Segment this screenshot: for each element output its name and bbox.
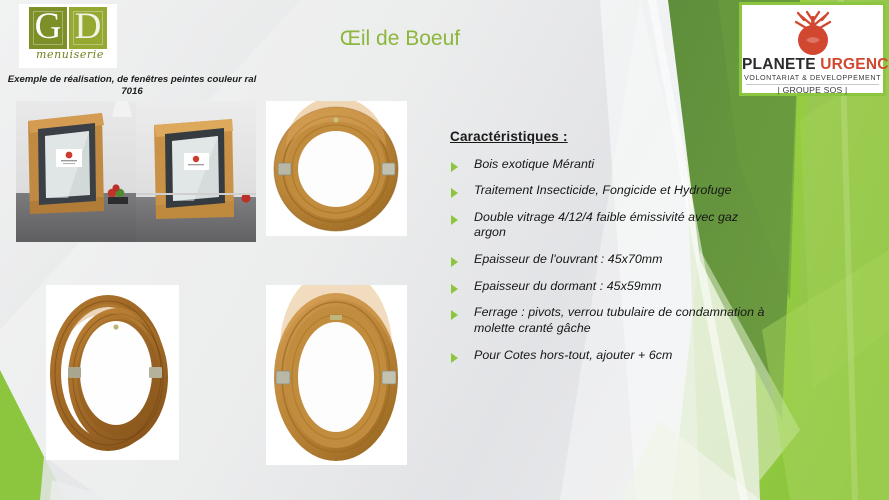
- planete-urgence-name: PLANETE URGENCE: [742, 57, 883, 73]
- list-item: Ferrage : pivots, verrou tubulaire de co…: [450, 305, 770, 336]
- painted-window-right: [136, 101, 256, 242]
- logo-gd-menuiserie: G D menuiserie: [19, 4, 117, 68]
- list-item: Epaisseur du dormant : 45x59mm: [450, 279, 770, 295]
- planete-urgence-tagline: VOLONTARIAT & DEVELOPPEMENT: [742, 74, 883, 81]
- list-item: Double vitrage 4/12/4 faible émissivité …: [450, 210, 770, 241]
- list-item-label: Ferrage : pivots, verrou tubulaire de co…: [474, 305, 770, 336]
- list-item-label: Pour Cotes hors-tout, ajouter + 6cm: [474, 348, 770, 364]
- photo-caption: Exemple de réalisation, de fenêtres pein…: [6, 74, 258, 99]
- pu-name-part-2: URGENCE: [820, 56, 889, 73]
- characteristics-section: Caractéristiques : Bois exotique Méranti…: [450, 130, 770, 374]
- gd-letter-d: D: [69, 7, 107, 49]
- gd-letter-g: G: [29, 7, 67, 49]
- photo-oval-angled: [46, 285, 179, 460]
- tree-icon: [782, 10, 844, 57]
- triangle-bullet-icon: [451, 284, 458, 294]
- photo-painted-windows: [16, 101, 256, 242]
- triangle-bullet-icon: [451, 188, 458, 198]
- gd-square-d: D: [69, 7, 107, 49]
- list-item-label: Traitement Insecticide, Fongicide et Hyd…: [474, 183, 770, 199]
- list-item-label: Double vitrage 4/12/4 faible émissivité …: [474, 210, 770, 241]
- pu-name-part-1: PLANETE: [742, 56, 816, 73]
- gd-square-g: G: [29, 7, 67, 49]
- slide-canvas: G D menuiserie: [0, 0, 889, 500]
- photo-oval-front: [266, 285, 407, 465]
- list-item-label: Epaisseur de l'ouvrant : 45x70mm: [474, 252, 770, 268]
- painted-window-left: [16, 101, 136, 242]
- list-item: Pour Cotes hors-tout, ajouter + 6cm: [450, 348, 770, 364]
- triangle-bullet-icon: [451, 215, 458, 225]
- list-item: Bois exotique Méranti: [450, 157, 770, 173]
- triangle-bullet-icon: [451, 162, 458, 172]
- triangle-bullet-icon: [451, 310, 458, 320]
- slide-title: Œil de Boeuf: [250, 28, 550, 49]
- triangle-bullet-icon: [451, 353, 458, 363]
- list-item: Traitement Insecticide, Fongicide et Hyd…: [450, 183, 770, 199]
- list-item-label: Epaisseur du dormant : 45x59mm: [474, 279, 770, 295]
- planete-urgence-groupe: | GROUPE SOS |: [742, 86, 883, 95]
- photo-round-oeil-de-boeuf: [266, 101, 407, 236]
- gd-wordmark: menuiserie: [28, 49, 112, 60]
- list-item: Epaisseur de l'ouvrant : 45x70mm: [450, 252, 770, 268]
- triangle-bullet-icon: [451, 257, 458, 267]
- list-item-label: Bois exotique Méranti: [474, 157, 770, 173]
- gd-logo-squares: G D: [29, 7, 107, 49]
- logo-planete-urgence: PLANETE URGENCE VOLONTARIAT & DEVELOPPEM…: [739, 2, 886, 96]
- characteristics-heading: Caractéristiques :: [450, 130, 770, 144]
